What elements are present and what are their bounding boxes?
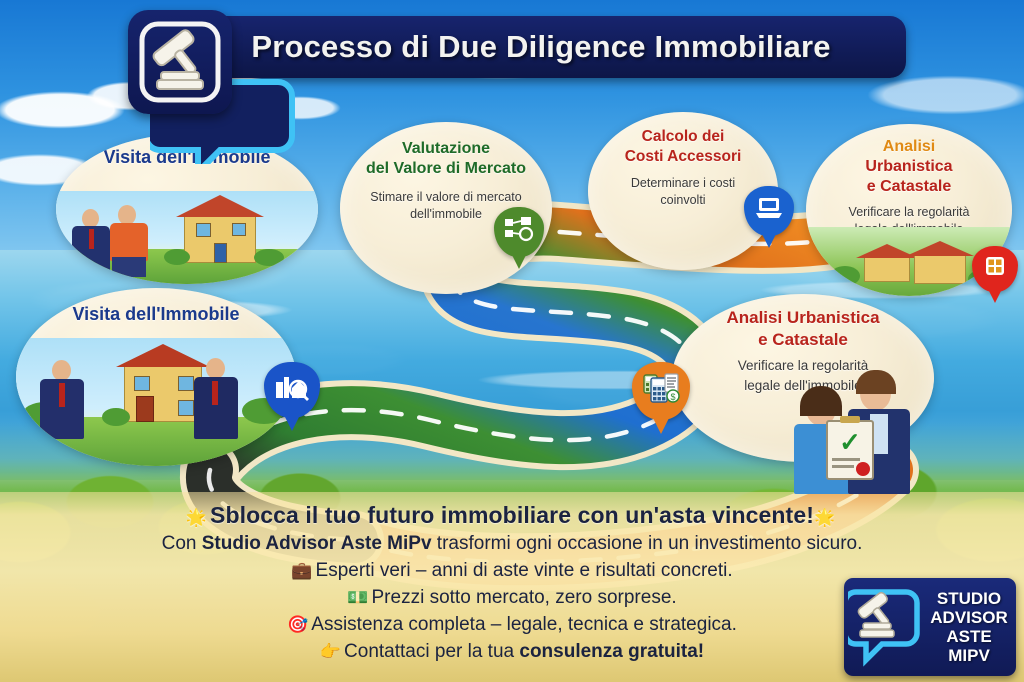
cta-subline-post: trasformi ogni occasione in un investime… — [432, 533, 863, 554]
star-icon-left: 🌟 — [186, 508, 207, 527]
step-title-line2: e Catastale — [672, 330, 934, 349]
cta-subline-pre: Con — [162, 533, 202, 554]
cta-subline: Con Studio Advisor Aste MiPv trasformi o… — [0, 533, 1024, 555]
logo-line-3: ASTE — [922, 627, 1016, 646]
step-title-line2: Costi Accessori — [588, 148, 778, 166]
step-bubble-visita-immobile-bottom[interactable]: Visita dell'Immobile — [16, 288, 296, 466]
logo-line-2: ADVISOR — [922, 608, 1016, 627]
title-banner: Processo di Due Diligence Immobiliare — [176, 16, 906, 78]
logo-badge-bottom[interactable]: STUDIO ADVISOR ASTE MIPV — [844, 578, 1016, 676]
cta-item-bold-tail: consulenza gratuita! — [519, 641, 704, 662]
chart-analysis-icon — [503, 215, 535, 243]
cta-item-text: Prezzi sotto mercato, zero sorprese. — [372, 587, 677, 608]
house-search-icon — [274, 372, 310, 402]
step-subtitle-line1: Verificare la regolarità — [806, 205, 1012, 219]
step-title-line3: e Catastale — [806, 178, 1012, 196]
calculator-documents-icon: $ — [642, 372, 680, 404]
laptop-money-icon — [753, 195, 785, 221]
couple-illustration: ✓ — [782, 362, 932, 492]
step-title-line2: del Valore di Mercato — [340, 160, 552, 178]
star-icon-right: 🌟 — [814, 508, 835, 527]
step-title-line2: Urbanistica — [806, 158, 1012, 176]
cta-item-text: Contattaci per la tua — [344, 641, 519, 662]
step-subtitle-line1: Stimare il valore di mercato — [340, 190, 552, 204]
gavel-icon — [128, 10, 232, 114]
pointing-finger-icon: 👉 — [320, 642, 341, 661]
step-title: Visita dell'Immobile — [16, 304, 296, 325]
step-title-line1: Valutazione — [340, 140, 552, 158]
scene-visita-bottom — [16, 338, 296, 466]
map-pin-visita-immobile[interactable] — [264, 362, 320, 418]
money-icon: 💵 — [347, 588, 368, 607]
step-title-line1: Analisi Urbanistica — [672, 308, 934, 327]
logo-gavel-bubble — [848, 586, 922, 668]
briefcase-icon: 💼 — [291, 561, 312, 580]
gavel-speech-bubble-icon — [848, 586, 922, 668]
logo-line-1: STUDIO — [922, 589, 1016, 608]
step-title-line1: Calcolo dei — [588, 128, 778, 146]
building-window-icon — [983, 254, 1007, 278]
logo-badge-top — [128, 10, 232, 114]
infographic-canvas: Processo di Due Diligence Immobiliare Vi… — [0, 0, 1024, 682]
scene-visita-top — [56, 191, 318, 284]
svg-text:$: $ — [670, 392, 675, 402]
cta-headline: 🌟Sblocca il tuo futuro immobiliare con u… — [0, 502, 1024, 529]
map-pin-analisi-urbanistica[interactable] — [972, 246, 1018, 292]
page-title: Processo di Due Diligence Immobiliare — [251, 29, 830, 65]
brand-name: Studio Advisor Aste MiPv — [202, 533, 432, 554]
logo-line-4: MIPV — [922, 646, 1016, 665]
cta-item-text: Esperti veri – anni di aste vinte e risu… — [316, 560, 733, 581]
cta-headline-text: Sblocca il tuo futuro immobiliare con un… — [210, 502, 814, 528]
logo-text-block: STUDIO ADVISOR ASTE MIPV — [922, 589, 1016, 665]
map-pin-valutazione[interactable] — [494, 207, 544, 257]
map-pin-calcolo-costi[interactable] — [744, 186, 794, 236]
map-pin-costi-calcolatrice[interactable]: $ — [632, 362, 690, 420]
cta-item-text: Assistenza completa – legale, tecnica e … — [311, 614, 737, 635]
target-icon: 🎯 — [287, 615, 308, 634]
step-title-line1: Analisi — [806, 138, 1012, 156]
